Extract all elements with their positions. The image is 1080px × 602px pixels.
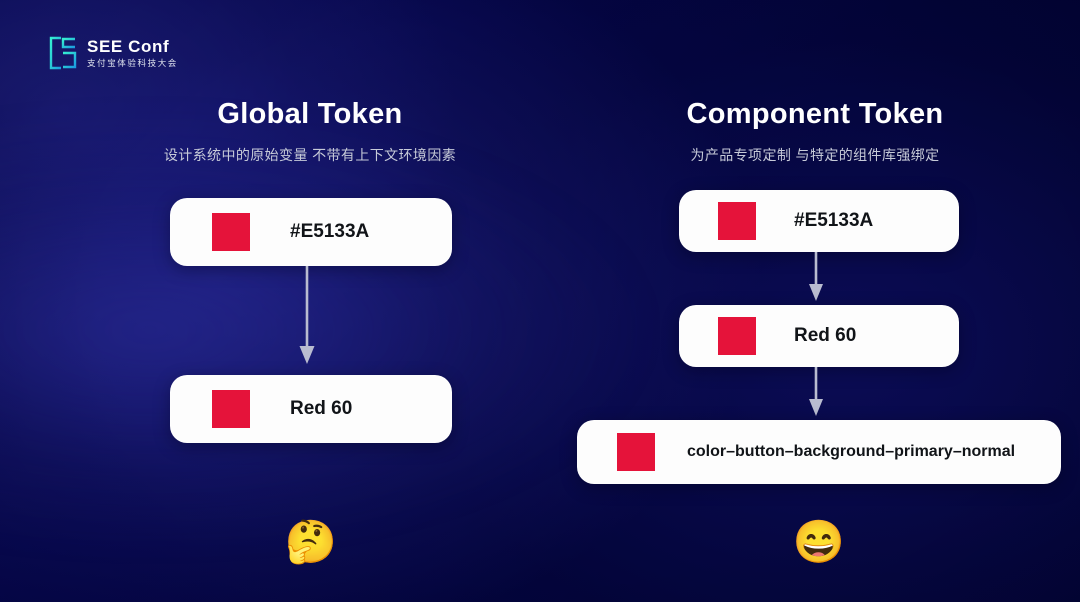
token-card-label: #E5133A	[794, 210, 873, 232]
token-card-label: color–button–background–primary–normal	[687, 443, 1015, 461]
token-comparison: Global Token 设计系统中的原始变量 不带有上下文环境因素 #E513…	[0, 0, 1080, 602]
color-swatch	[617, 433, 655, 471]
token-card-label: Red 60	[290, 398, 352, 420]
column-title-component: Component Token	[565, 98, 1065, 131]
token-card[interactable]: #E5133A	[679, 190, 959, 252]
color-swatch	[718, 317, 756, 355]
token-card[interactable]: #E5133A	[170, 198, 452, 266]
thinking-face-emoji: 🤔	[281, 521, 341, 563]
token-card-label: Red 60	[794, 325, 856, 347]
flow-arrow-down-icon	[805, 367, 827, 417]
token-card[interactable]: color–button–background–primary–normal	[577, 420, 1061, 484]
flow-arrow-down-icon	[805, 252, 827, 302]
presentation-slide: SEE Conf 支付宝体验科技大会 Global Token 设计系统中的原始…	[0, 0, 1080, 602]
column-subtitle-global: 设计系统中的原始变量 不带有上下文环境因素	[75, 145, 545, 165]
column-component-token: Component Token 为产品专项定制 与特定的组件库强绑定	[565, 0, 1065, 165]
color-swatch	[718, 202, 756, 240]
color-swatch	[212, 213, 250, 251]
column-subtitle-component: 为产品专项定制 与特定的组件库强绑定	[565, 145, 1065, 165]
column-title-global: Global Token	[75, 98, 545, 131]
column-global-token: Global Token 设计系统中的原始变量 不带有上下文环境因素	[75, 0, 545, 165]
token-card[interactable]: Red 60	[170, 375, 452, 443]
token-card[interactable]: Red 60	[679, 305, 959, 367]
color-swatch	[212, 390, 250, 428]
flow-arrow-down-icon	[296, 266, 318, 366]
token-card-label: #E5133A	[290, 221, 369, 243]
grinning-face-emoji: 😄	[789, 521, 849, 563]
